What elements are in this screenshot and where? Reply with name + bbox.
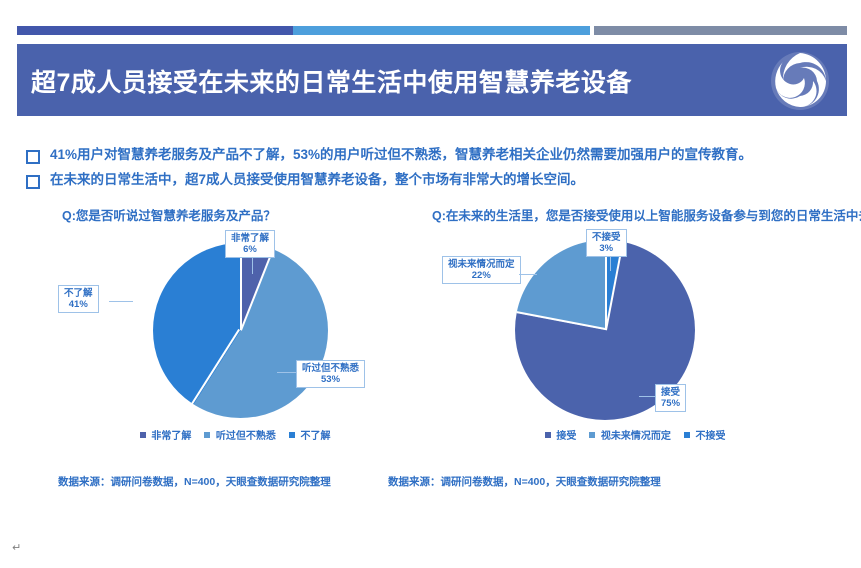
chart-panel-acceptance: Q:在未来的生活里，您是否接受使用以上智能服务设备参与到您的日常生活中去？ 不接…	[420, 205, 850, 432]
leader-line	[109, 301, 133, 302]
key-findings-list: 41%用户对智慧养老服务及产品不了解，53%的用户听过但不熟悉，智慧养老相关企业…	[26, 146, 846, 196]
leader-line	[277, 372, 297, 373]
square-bullet-icon	[26, 175, 40, 189]
leader-line	[610, 257, 611, 271]
bullet-text: 41%用户对智慧养老服务及产品不了解，53%的用户听过但不熟悉，智慧养老相关企业…	[50, 146, 752, 164]
list-item: 41%用户对智慧养老服务及产品不了解，53%的用户听过但不熟悉，智慧养老相关企业…	[26, 146, 846, 164]
page-title: 超7成人员接受在未来的日常生活中使用智慧养老设备	[31, 63, 632, 99]
chart-question-title: Q:您是否听说过智慧养老服务及产品？	[62, 205, 430, 224]
top-bar-light-blue	[293, 26, 590, 35]
list-item: 在未来的日常生活中，超7成人员接受使用智慧养老设备，整个市场有非常大的增长空间。	[26, 171, 846, 189]
slide-header: 超7成人员接受在未来的日常生活中使用智慧养老设备	[17, 44, 847, 116]
leader-line	[519, 274, 537, 275]
source-note-right: 数据来源：调研问卷数据，N=400，天眼查数据研究院整理	[388, 474, 661, 489]
data-label-callout: 视未来情况而定 22%	[442, 256, 521, 284]
legend-item: 不了解	[289, 427, 331, 442]
top-bar-gray-blue	[594, 26, 847, 35]
legend-item: 非常了解	[140, 427, 192, 442]
leader-line	[639, 396, 655, 397]
legend-item: 听过但不熟悉	[204, 427, 276, 442]
legend-swatch-icon	[684, 432, 690, 438]
legend-swatch-icon	[589, 432, 595, 438]
data-label-callout: 不接受 3%	[586, 229, 627, 257]
bullet-text: 在未来的日常生活中，超7成人员接受使用智慧养老设备，整个市场有非常大的增长空间。	[50, 171, 584, 189]
legend-item: 视未来情况而定	[589, 427, 671, 442]
pie-chart-awareness: 非常了解 6% 不了解 41% 听过但不熟悉 53%	[40, 232, 430, 432]
legend-item: 接受	[545, 427, 577, 442]
data-label-callout: 非常了解 6%	[225, 230, 275, 258]
leader-line	[252, 258, 253, 274]
chart-legend: 接受 视未来情况而定 不接受	[420, 427, 850, 442]
decorative-top-bars	[0, 26, 861, 35]
paragraph-mark: ↵	[12, 541, 21, 554]
legend-swatch-icon	[204, 432, 210, 438]
chart-question-title: Q:在未来的生活里，您是否接受使用以上智能服务设备参与到您的日常生活中去？	[432, 205, 850, 224]
chart-panel-awareness: Q:您是否听说过智慧养老服务及产品？ 非常了解 6% 不了解 41% 听过但不熟…	[40, 205, 430, 432]
legend-item: 不接受	[684, 427, 726, 442]
data-label-callout: 不了解 41%	[58, 285, 99, 313]
data-label-callout: 听过但不熟悉 53%	[296, 360, 365, 388]
square-bullet-icon	[26, 150, 40, 164]
data-label-callout: 接受 75%	[655, 384, 686, 412]
legend-swatch-icon	[140, 432, 146, 438]
chart-legend: 非常了解 听过但不熟悉 不了解	[40, 427, 430, 442]
pie-chart-acceptance: 不接受 3% 视未来情况而定 22% 接受 75%	[420, 232, 850, 432]
source-note-left: 数据来源：调研问卷数据，N=400，天眼查数据研究院整理	[58, 474, 331, 489]
legend-swatch-icon	[545, 432, 551, 438]
legend-swatch-icon	[289, 432, 295, 438]
tianyancha-logo-icon	[769, 50, 831, 112]
